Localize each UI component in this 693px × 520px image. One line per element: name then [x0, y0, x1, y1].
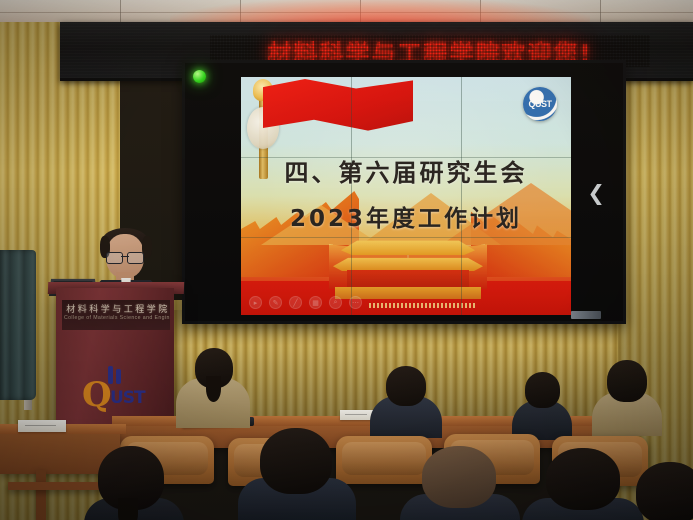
zoom-icon[interactable]: ⌕ — [329, 296, 342, 309]
video-wall-display: ❮ — [182, 60, 626, 324]
audience-member-4 — [400, 446, 520, 520]
qust-logo: Q UST — [82, 366, 148, 418]
university-emblem-text: QUST — [528, 99, 551, 109]
paper-on-desk-2 — [340, 410, 374, 420]
ir-sensor-strip — [571, 311, 601, 319]
audience-member-7 — [592, 360, 662, 426]
power-indicator-icon — [193, 70, 206, 83]
qust-logo-ust: UST — [110, 388, 145, 408]
chevron-left-icon: ❮ — [587, 181, 605, 205]
podium-sign-chinese: 材料科学与工程学院 — [66, 302, 170, 315]
eyeglasses-icon — [106, 252, 144, 262]
pointer-icon[interactable]: ▸ — [249, 296, 262, 309]
audience-member-6 — [522, 448, 644, 520]
podium-sign-english: College of Materials Science and Enginee… — [64, 315, 170, 321]
curtain — [0, 250, 36, 400]
presentation-slide: 四、第六届研究生会 2023年度工作计划 QUST ▸ ✎ ╱ ▦ ⌕ ⋯ — [241, 77, 571, 315]
slideshow-toolbar[interactable]: ▸ ✎ ╱ ▦ ⌕ ⋯ — [249, 296, 362, 309]
qust-logo-q: Q — [82, 378, 112, 412]
audience-member-9 — [636, 462, 693, 520]
slide-heading-line-1: 四、第六届研究生会 — [241, 153, 571, 188]
slide-heading-line-2: 2023年度工作计划 — [241, 199, 571, 233]
conference-hall-photo: 材料科学与工程学院欢迎您! ❮ — [0, 0, 693, 520]
audience-member-1 — [176, 348, 250, 424]
highlighter-icon[interactable]: ╱ — [289, 296, 302, 309]
slides-icon[interactable]: ▦ — [309, 296, 322, 309]
audience-member-8 — [512, 372, 572, 428]
audience-member-3 — [238, 428, 356, 520]
podium-nameplate: 材料科学与工程学院 College of Materials Science a… — [62, 300, 170, 330]
university-emblem-icon: QUST — [523, 87, 557, 121]
paper-on-desk-3 — [18, 420, 66, 432]
pen-icon[interactable]: ✎ — [269, 296, 282, 309]
audience-member-2 — [370, 366, 442, 428]
desk-leg — [36, 470, 46, 520]
more-options-icon[interactable]: ⋯ — [349, 296, 362, 309]
audience-member-5 — [84, 446, 184, 520]
